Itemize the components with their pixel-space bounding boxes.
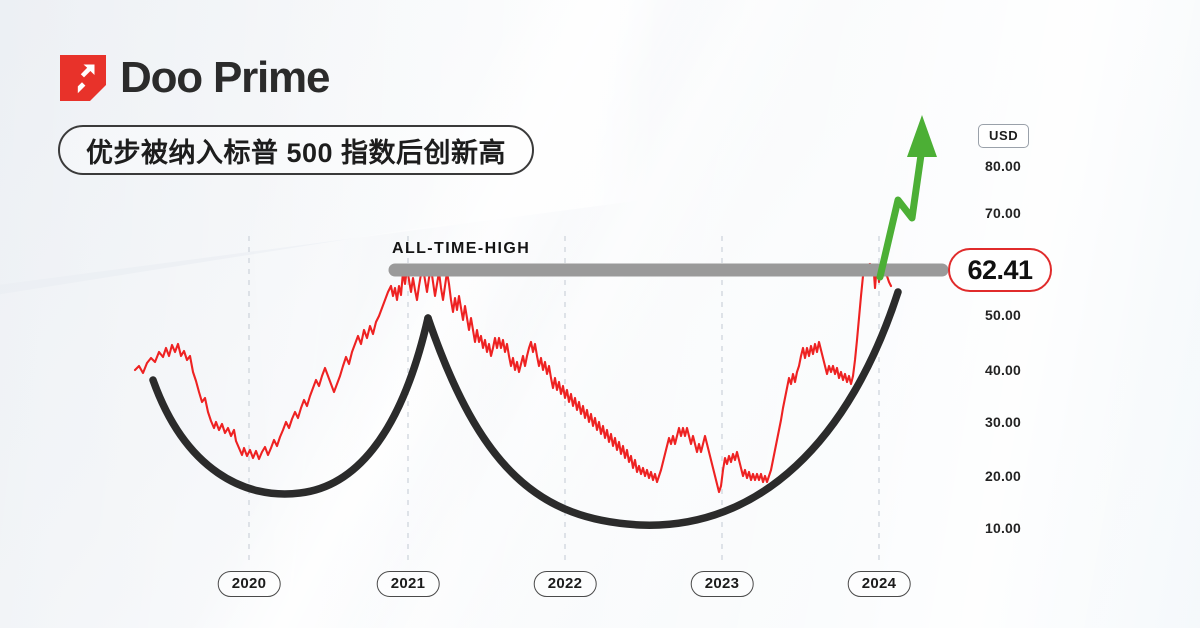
year-pill-2022: 2022 (534, 571, 597, 597)
price-tick-label: 80.00 (985, 158, 1021, 174)
cup-curve-right (428, 292, 898, 525)
year-pill-2021: 2021 (377, 571, 440, 597)
year-pill-2023: 2023 (691, 571, 754, 597)
infographic-canvas: Doo Prime 优步被纳入标普 500 指数后创新高 (0, 0, 1200, 628)
price-tick-label: 10.00 (985, 520, 1021, 536)
all-time-high-label: ALL-TIME-HIGH (392, 240, 530, 258)
current-price-badge: 62.41 (948, 248, 1052, 292)
currency-badge: USD (978, 124, 1029, 148)
cup-curve-left (153, 318, 428, 494)
price-tick-label: 50.00 (985, 307, 1021, 323)
year-pill-2024: 2024 (848, 571, 911, 597)
forecast-arrow-icon (880, 115, 937, 277)
year-pill-2020: 2020 (218, 571, 281, 597)
price-tick-label: 70.00 (985, 205, 1021, 221)
price-tick-label: 20.00 (985, 468, 1021, 484)
price-tick-label: 30.00 (985, 414, 1021, 430)
price-tick-label: 40.00 (985, 362, 1021, 378)
